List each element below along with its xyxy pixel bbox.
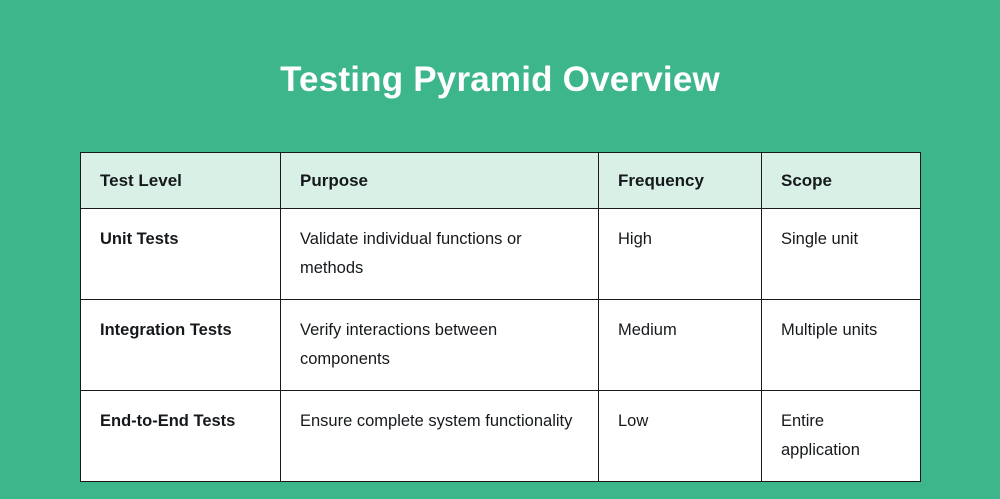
cell-test-level: Integration Tests [81, 300, 281, 391]
table-row: Unit Tests Validate individual functions… [81, 209, 921, 300]
cell-purpose: Ensure complete system functionality [281, 391, 599, 482]
table-header-row: Test Level Purpose Frequency Scope [81, 153, 921, 209]
cell-test-level: Unit Tests [81, 209, 281, 300]
cell-scope: Entire application [762, 391, 921, 482]
testing-pyramid-table: Test Level Purpose Frequency Scope Unit … [80, 152, 921, 482]
cell-frequency: Low [599, 391, 762, 482]
table-row: End-to-End Tests Ensure complete system … [81, 391, 921, 482]
table-row: Integration Tests Verify interactions be… [81, 300, 921, 391]
table-container: Test Level Purpose Frequency Scope Unit … [80, 152, 920, 482]
table-body: Unit Tests Validate individual functions… [81, 209, 921, 482]
page-root: Testing Pyramid Overview Test Level Purp… [0, 0, 1000, 499]
page-title: Testing Pyramid Overview [0, 58, 1000, 102]
column-header-scope: Scope [762, 153, 921, 209]
cell-purpose: Verify interactions between components [281, 300, 599, 391]
cell-purpose: Validate individual functions or methods [281, 209, 599, 300]
cell-frequency: Medium [599, 300, 762, 391]
cell-scope: Single unit [762, 209, 921, 300]
table-header: Test Level Purpose Frequency Scope [81, 153, 921, 209]
cell-test-level: End-to-End Tests [81, 391, 281, 482]
column-header-test-level: Test Level [81, 153, 281, 209]
cell-frequency: High [599, 209, 762, 300]
cell-scope: Multiple units [762, 300, 921, 391]
column-header-frequency: Frequency [599, 153, 762, 209]
column-header-purpose: Purpose [281, 153, 599, 209]
